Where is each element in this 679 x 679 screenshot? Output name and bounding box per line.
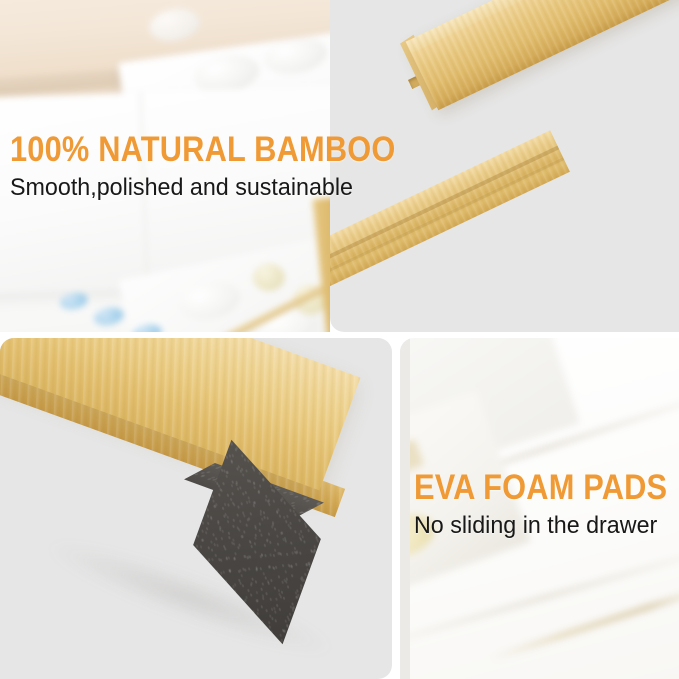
outer-channel-rail [406, 0, 679, 110]
bamboo-grain-texture [406, 0, 679, 110]
natural-bamboo-text-block: 100% NATURAL BAMBOO Smooth,polished and … [10, 131, 448, 203]
pale-yellow-item [253, 264, 285, 292]
natural-bamboo-headline: 100% NATURAL BAMBOO [10, 131, 396, 169]
panel-left-gutter [400, 338, 410, 679]
eva-foam-pads-headline: EVA FOAM PADS [414, 469, 667, 507]
eva-foam-pads-text-block: EVA FOAM PADS No sliding in the drawer [414, 469, 679, 541]
product-feature-collage: 100% NATURAL BAMBOO Smooth,polished and … [0, 0, 679, 679]
eva-foam-pads-subline: No sliding in the drawer [414, 511, 679, 541]
rail-top-chamfer [406, 0, 679, 53]
natural-bamboo-subline: Smooth,polished and sustainable [10, 173, 435, 203]
panel-foam-pad-closeup [0, 338, 392, 679]
